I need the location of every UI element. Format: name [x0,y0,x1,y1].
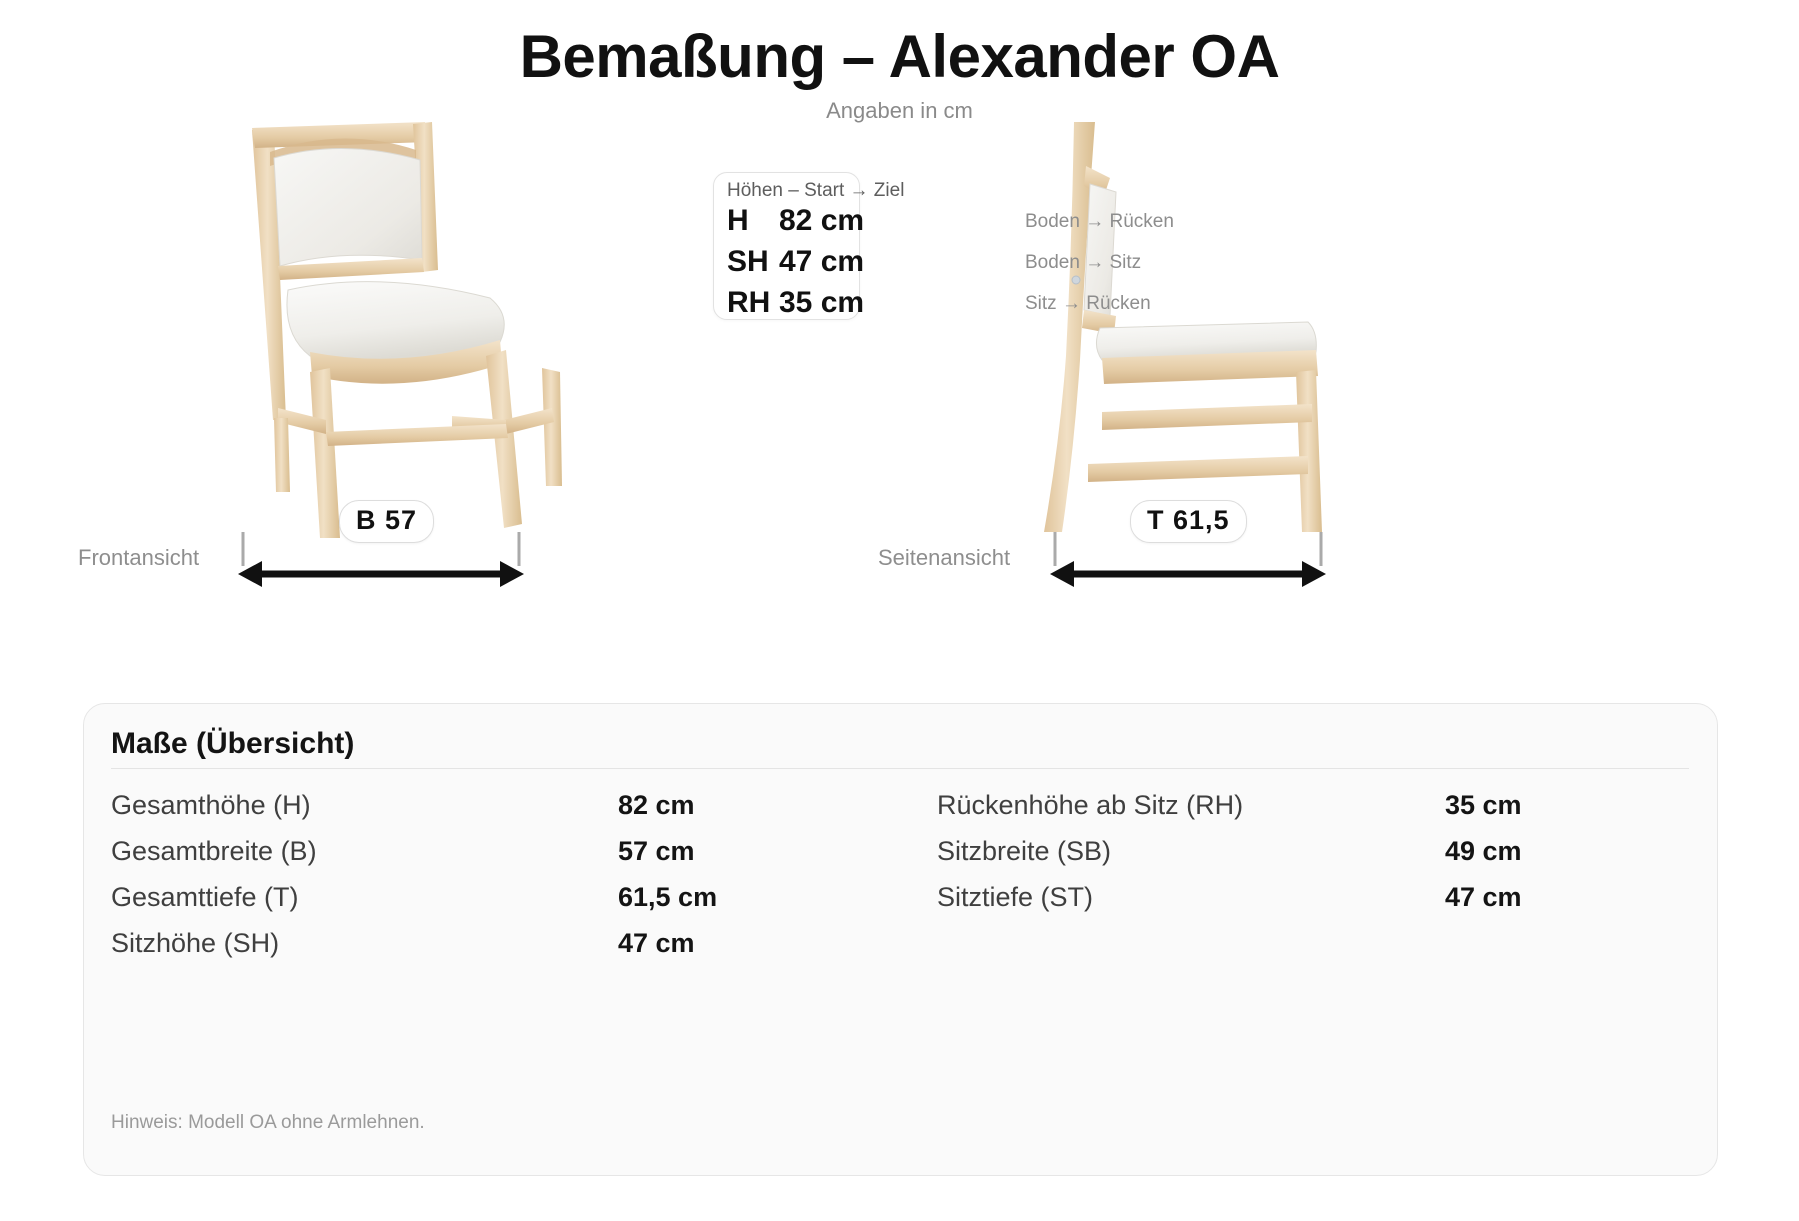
chair-side-image [1040,120,1340,540]
row-label: Sitzbreite (SB) [937,828,1111,874]
views-area: B 57 Frontansicht T 61,5 [0,120,1799,680]
summary-title: Maße (Übersicht) [111,727,354,761]
front-dimension-arrow [236,530,536,590]
side-dimension-arrow [1048,530,1338,590]
row-label: Sitztiefe (ST) [937,874,1093,920]
heights-box-title: Höhen – Start → Ziel [727,180,904,202]
page-title: Bemaßung – Alexander OA [0,22,1799,91]
heights-value-sh: 47 cm [779,245,864,279]
heights-value-h: 82 cm [779,204,864,238]
heights-note-h: Boden → Rücken [1025,211,1174,233]
side-view-label: Seitenansicht [878,545,1010,571]
row-value: 49 cm [1445,828,1522,874]
row-value: 47 cm [1445,874,1522,920]
chair-front-image [170,120,600,540]
row-label: Gesamttiefe (T) [111,874,299,920]
summary-note: Hinweis: Modell OA ohne Armlehnen. [111,1112,425,1134]
heights-note-sh: Boden → Sitz [1025,252,1141,274]
summary-column-right: Rückenhöhe ab Sitz (RH) 35 cm Sitzbreite… [937,782,1547,920]
row-value: 57 cm [618,828,695,874]
row-value: 47 cm [618,920,695,966]
heights-key-h: H [727,204,779,238]
table-row: Rückenhöhe ab Sitz (RH) 35 cm [937,782,1547,828]
row-value: 61,5 cm [618,874,717,920]
row-label: Gesamtbreite (B) [111,828,317,874]
table-row: Gesamtbreite (B) 57 cm [111,828,771,874]
heights-value-rh: 35 cm [779,286,864,320]
row-value: 35 cm [1445,782,1522,828]
heights-row-rh: RH35 cm [727,286,864,320]
row-label: Gesamthöhe (H) [111,782,311,828]
heights-key-rh: RH [727,286,779,320]
table-row: Gesamttiefe (T) 61,5 cm [111,874,771,920]
row-label: Rückenhöhe ab Sitz (RH) [937,782,1243,828]
row-label: Sitzhöhe (SH) [111,920,279,966]
heights-note-rh: Sitz → Rücken [1025,293,1151,315]
heights-row-h: H82 cm [727,204,864,238]
summary-divider [111,768,1689,769]
table-row: Gesamthöhe (H) 82 cm [111,782,771,828]
table-row: Sitzbreite (SB) 49 cm [937,828,1547,874]
row-value: 82 cm [618,782,695,828]
summary-column-left: Gesamthöhe (H) 82 cm Gesamtbreite (B) 57… [111,782,771,966]
front-view-label: Frontansicht [78,545,199,571]
heights-key-sh: SH [727,245,779,279]
table-row: Sitzhöhe (SH) 47 cm [111,920,771,966]
table-row: Sitztiefe (ST) 47 cm [937,874,1547,920]
heights-row-sh: SH47 cm [727,245,864,279]
